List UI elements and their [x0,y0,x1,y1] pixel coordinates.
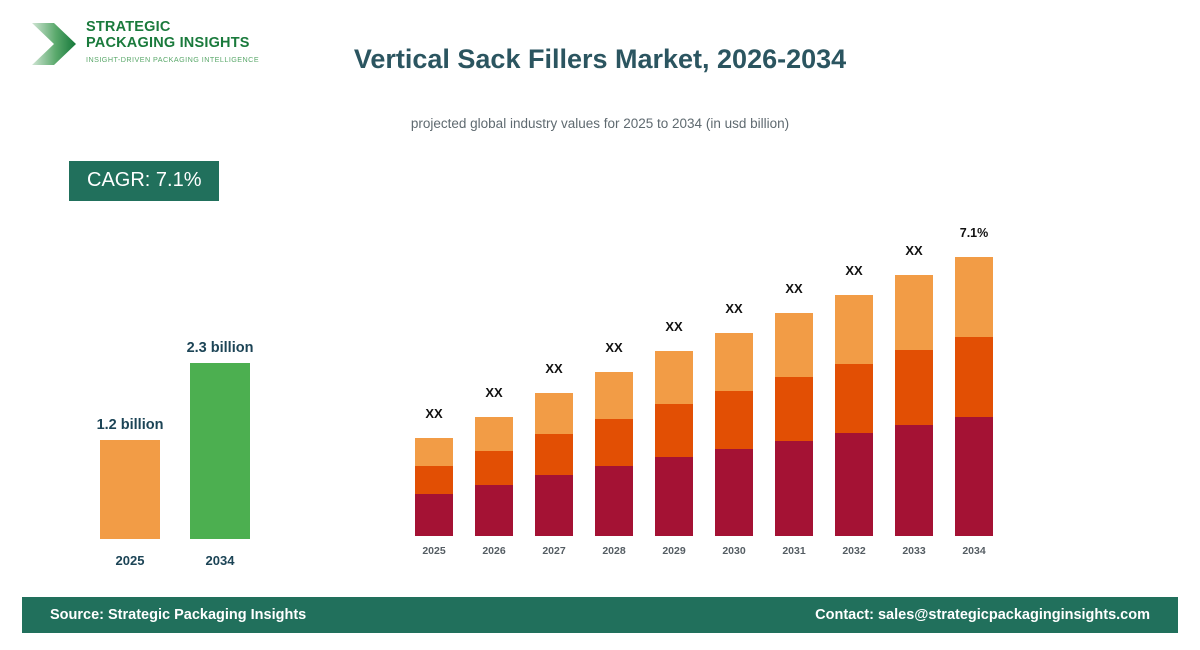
stacked-bar-2030 [715,333,753,536]
stacked-segment-2-2030 [715,391,753,449]
projected-values-stacked-chart: XX 2025 XX 2026 XX 2027 [405,200,1015,560]
stacked-segment-3-2031 [775,313,813,377]
page-title: Vertical Sack Fillers Market, 2026-2034 [300,44,900,75]
stacked-segment-2-2027 [535,434,573,475]
stacked-year-2026: 2026 [465,545,523,557]
stacked-column-2027: XX 2027 [525,200,583,560]
stacked-segment-1-2028 [595,466,633,536]
stacked-year-2027: 2027 [525,545,583,557]
comparison-bar-2025 [100,440,160,539]
stacked-bar-2034 [955,257,993,536]
chevron-logo-icon [30,20,80,68]
comparison-column-2034: 2.3 billion 2034 [175,300,265,575]
stacked-bar-2031 [775,313,813,536]
stacked-column-2031: XX 2031 [765,200,823,560]
stacked-column-2034: 7.1% 2034 [945,200,1003,560]
stacked-segment-1-2026 [475,485,513,536]
stacked-bar-2028 [595,372,633,536]
stacked-segment-1-2029 [655,457,693,536]
stacked-segment-2-2026 [475,451,513,485]
stacked-year-2031: 2031 [765,545,823,557]
stacked-segment-2-2025 [415,466,453,494]
comparison-value-2034: 2.3 billion [161,340,279,356]
stacked-segment-3-2029 [655,351,693,404]
stacked-bar-2027 [535,393,573,536]
cagr-badge: CAGR: 7.1% [69,161,219,201]
stacked-segment-2-2028 [595,419,633,466]
stacked-segment-3-2032 [835,295,873,364]
stacked-top-label-2031: XX [765,281,823,296]
stacked-segment-3-2033 [895,275,933,350]
stacked-bar-2032 [835,295,873,536]
stacked-year-2028: 2028 [585,545,643,557]
stacked-segment-1-2027 [535,475,573,536]
stacked-column-2030: XX 2030 [705,200,763,560]
stacked-segment-3-2027 [535,393,573,434]
infographic-page: STRATEGIC PACKAGING INSIGHTS INSIGHT-DRI… [0,0,1200,650]
stacked-segment-1-2025 [415,494,453,536]
stacked-column-2028: XX 2028 [585,200,643,560]
stacked-segment-2-2033 [895,350,933,425]
footer-bar: Source: Strategic Packaging Insights Con… [22,597,1178,633]
logo-tagline: INSIGHT-DRIVEN PACKAGING INTELLIGENCE [86,55,271,64]
stacked-segment-1-2034 [955,417,993,536]
stacked-year-2029: 2029 [645,545,703,557]
stacked-bar-2025 [415,438,453,536]
stacked-top-label-2034: 7.1% [945,226,1003,240]
stacked-top-label-2025: XX [405,406,463,421]
stacked-segment-1-2033 [895,425,933,536]
footer-source-text: Source: Strategic Packaging Insights [50,597,306,633]
stacked-segment-2-2029 [655,404,693,457]
stacked-top-label-2033: XX [885,243,943,258]
brand-logo-text: STRATEGIC PACKAGING INSIGHTS INSIGHT-DRI… [86,20,271,64]
brand-logo: STRATEGIC PACKAGING INSIGHTS INSIGHT-DRI… [30,18,270,78]
comparison-year-2034: 2034 [175,553,265,568]
stacked-column-2025: XX 2025 [405,200,463,560]
comparison-value-2025: 1.2 billion [71,417,189,433]
stacked-segment-3-2028 [595,372,633,419]
stacked-segment-2-2034 [955,337,993,417]
stacked-year-2030: 2030 [705,545,763,557]
stacked-top-label-2028: XX [585,340,643,355]
stacked-top-label-2029: XX [645,319,703,334]
stacked-column-2029: XX 2029 [645,200,703,560]
logo-line-2: PACKAGING INSIGHTS [86,36,271,52]
market-size-comparison-chart: 1.2 billion 2025 2.3 billion 2034 [50,300,290,575]
stacked-top-label-2026: XX [465,385,523,400]
stacked-year-2033: 2033 [885,545,943,557]
stacked-column-2032: XX 2032 [825,200,883,560]
stacked-year-2032: 2032 [825,545,883,557]
stacked-segment-1-2030 [715,449,753,536]
stacked-bar-2026 [475,417,513,536]
page-subtitle: projected global industry values for 202… [300,116,900,131]
logo-line-1: STRATEGIC [86,20,271,36]
stacked-bar-2029 [655,351,693,536]
stacked-year-2025: 2025 [405,545,463,557]
stacked-segment-3-2034 [955,257,993,337]
footer-contact-text: Contact: sales@strategicpackaginginsight… [815,597,1150,633]
stacked-bar-2033 [895,275,933,536]
stacked-column-2033: XX 2033 [885,200,943,560]
stacked-segment-1-2032 [835,433,873,536]
comparison-year-2025: 2025 [85,553,175,568]
stacked-segment-3-2025 [415,438,453,466]
stacked-top-label-2027: XX [525,361,583,376]
stacked-segment-3-2026 [475,417,513,451]
stacked-segment-2-2032 [835,364,873,433]
comparison-bar-2034 [190,363,250,539]
stacked-top-label-2032: XX [825,263,883,278]
stacked-column-2026: XX 2026 [465,200,523,560]
stacked-segment-3-2030 [715,333,753,391]
stacked-segment-1-2031 [775,441,813,536]
stacked-year-2034: 2034 [945,545,1003,557]
stacked-segment-2-2031 [775,377,813,441]
stacked-top-label-2030: XX [705,301,763,316]
